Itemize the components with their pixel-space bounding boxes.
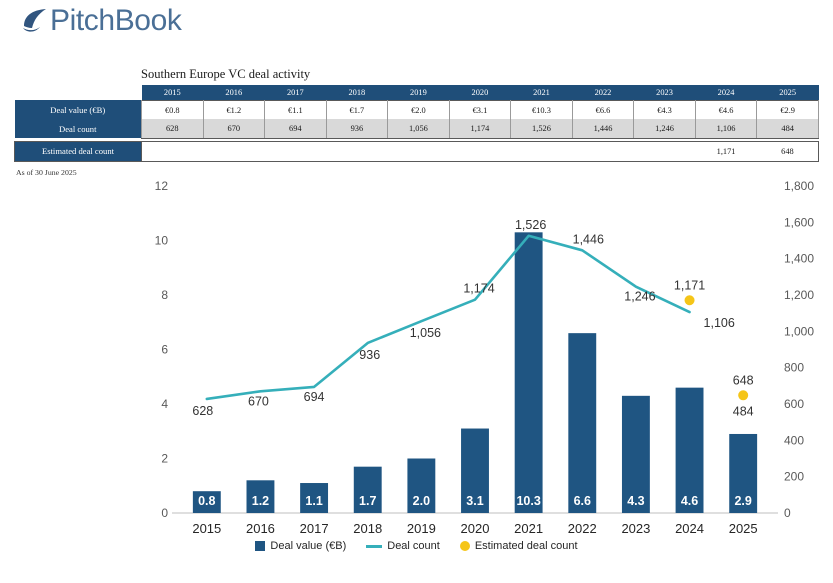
y-right-tick: 0 [784, 506, 791, 520]
cell-deal-count-2024: 1,106 [695, 119, 757, 138]
chart-plot-area: 024681012 02004006008001,0001,2001,4001,… [0, 176, 833, 536]
cell-deal-count-2020: 1,174 [449, 119, 511, 138]
cell-estimated-2021 [511, 141, 573, 161]
cell-deal-count-2017: 694 [265, 119, 327, 138]
table-corner-cell [15, 85, 142, 101]
cell-deal-count-2022: 1,446 [572, 119, 634, 138]
cell-estimated-2018 [326, 141, 388, 161]
estimated-dot-2024[interactable] [685, 295, 695, 305]
row-label-estimated-deal-count: Estimated deal count [15, 141, 142, 161]
x-tick-2022: 2022 [568, 521, 597, 536]
deal-activity-table: 2015 2016 2017 2018 2019 2020 2021 2022 … [14, 85, 819, 162]
x-tick-2019: 2019 [407, 521, 436, 536]
cell-estimated-2025: 648 [757, 141, 819, 161]
col-header-2018: 2018 [326, 85, 388, 101]
x-tick-2016: 2016 [246, 521, 275, 536]
cell-deal-value-2015: €0.8 [142, 100, 204, 119]
legend-square-icon [255, 541, 265, 551]
y-right-tick: 600 [784, 397, 804, 411]
legend-item-deal-value[interactable]: Deal value (€B) [255, 540, 346, 552]
chart-title: Southern Europe VC deal activity [141, 68, 819, 82]
cell-estimated-2022 [572, 141, 634, 161]
y-left-tick: 4 [161, 397, 168, 411]
line-label-2019: 1,056 [410, 326, 441, 340]
y-right-tick: 400 [784, 433, 804, 447]
line-label-2024: 1,106 [704, 316, 735, 330]
chart-legend: Deal value (€B) Deal count Estimated dea… [0, 540, 833, 552]
line-label-2018: 936 [359, 348, 380, 362]
y-left-tick: 0 [161, 506, 168, 520]
bar-label-2015: 0.8 [198, 494, 215, 508]
estimated-dot-label-2025: 648 [733, 373, 754, 387]
data-table-block: Southern Europe VC deal activity 2015 20… [14, 68, 819, 177]
pitchbook-wordmark: PitchBook [50, 6, 181, 36]
cell-estimated-2024: 1,171 [695, 141, 757, 161]
cell-deal-count-2025: 484 [757, 119, 819, 138]
col-header-2019: 2019 [388, 85, 450, 101]
x-tick-2021: 2021 [514, 521, 543, 536]
bar-label-2022: 6.6 [574, 494, 591, 508]
line-label-2025: 484 [733, 404, 754, 418]
bar-label-2016: 1.2 [252, 494, 269, 508]
x-tick-2015: 2015 [192, 521, 221, 536]
bar-label-2019: 2.0 [413, 494, 430, 508]
legend-item-estimated-deal-count[interactable]: Estimated deal count [460, 540, 578, 552]
table-row: Deal count 628 670 694 936 1,056 1,174 1… [15, 119, 819, 138]
line-label-2017: 694 [304, 390, 325, 404]
bar-label-2020: 3.1 [466, 494, 483, 508]
cell-deal-count-2021: 1,526 [511, 119, 573, 138]
row-label-deal-count: Deal count [15, 119, 142, 138]
cell-deal-value-2016: €1.2 [203, 100, 265, 119]
y-right-tick: 1,000 [784, 324, 814, 338]
x-tick-2017: 2017 [300, 521, 329, 536]
bar-series [193, 232, 757, 513]
deal-activity-chart: 024681012 02004006008001,0001,2001,4001,… [0, 176, 833, 536]
col-header-2020: 2020 [449, 85, 511, 101]
line-label-2023: 1,246 [624, 290, 655, 304]
bar-label-2025: 2.9 [734, 494, 751, 508]
col-header-2017: 2017 [265, 85, 327, 101]
estimated-dot-labels: 1,171648 [674, 278, 754, 387]
y-axis-right: 02004006008001,0001,2001,4001,6001,800 [784, 179, 814, 520]
cell-deal-count-2015: 628 [142, 119, 204, 138]
y-right-tick: 800 [784, 361, 804, 375]
x-tick-2018: 2018 [353, 521, 382, 536]
bar-2022[interactable] [568, 333, 596, 513]
col-header-2021: 2021 [511, 85, 573, 101]
x-tick-2023: 2023 [621, 521, 650, 536]
bar-label-2017: 1.1 [305, 494, 322, 508]
table-row: Deal value (€B) €0.8 €1.2 €1.1 €1.7 €2.0… [15, 100, 819, 119]
cell-deal-value-2018: €1.7 [326, 100, 388, 119]
deal-count-line[interactable] [207, 236, 690, 399]
line-label-2021: 1,526 [515, 218, 546, 232]
cell-deal-value-2024: €4.6 [695, 100, 757, 119]
col-header-2015: 2015 [142, 85, 204, 101]
table-row: Estimated deal count 1,171 648 [15, 141, 819, 161]
line-label-2022: 1,446 [573, 232, 604, 246]
y-left-tick: 10 [155, 234, 169, 248]
cell-deal-value-2025: €2.9 [757, 100, 819, 119]
cell-deal-count-2023: 1,246 [634, 119, 696, 138]
line-label-2015: 628 [192, 404, 213, 418]
cell-estimated-2016 [203, 141, 265, 161]
y-left-tick: 2 [161, 452, 168, 466]
legend-dot-icon [460, 541, 470, 551]
cell-estimated-2015 [142, 141, 204, 161]
y-left-tick: 6 [161, 343, 168, 357]
y-right-tick: 200 [784, 470, 804, 484]
y-right-tick: 1,400 [784, 252, 814, 266]
bar-label-2023: 4.3 [627, 494, 644, 508]
cell-deal-value-2020: €3.1 [449, 100, 511, 119]
y-right-tick: 1,600 [784, 215, 814, 229]
bar-label-2021: 10.3 [516, 494, 540, 508]
line-label-2016: 670 [248, 394, 269, 408]
legend-label-estimated-deal-count: Estimated deal count [475, 540, 578, 552]
table-header-row: 2015 2016 2017 2018 2019 2020 2021 2022 … [15, 85, 819, 101]
col-header-2016: 2016 [203, 85, 265, 101]
col-header-2023: 2023 [634, 85, 696, 101]
cell-estimated-2020 [449, 141, 511, 161]
cell-deal-count-2019: 1,056 [388, 119, 450, 138]
legend-line-icon [366, 545, 382, 548]
bar-label-2024: 4.6 [681, 494, 698, 508]
x-tick-2020: 2020 [461, 521, 490, 536]
line-label-2020: 1,174 [463, 282, 494, 296]
legend-label-deal-count: Deal count [387, 540, 440, 552]
cell-deal-value-2021: €10.3 [511, 100, 573, 119]
bar-label-2018: 1.7 [359, 494, 376, 508]
col-header-2022: 2022 [572, 85, 634, 101]
legend-item-deal-count[interactable]: Deal count [366, 540, 440, 552]
x-tick-2025: 2025 [729, 521, 758, 536]
x-tick-2024: 2024 [675, 521, 704, 536]
cell-deal-value-2023: €4.3 [634, 100, 696, 119]
line-value-labels: 6286706949361,0561,1741,5261,4461,2461,1… [192, 218, 753, 419]
bar-2021[interactable] [515, 232, 543, 513]
row-label-deal-value: Deal value (€B) [15, 100, 142, 119]
y-left-tick: 8 [161, 288, 168, 302]
line-series [207, 236, 690, 399]
cell-estimated-2023 [634, 141, 696, 161]
x-axis-labels: 2015201620172018201920202021202220232024… [192, 521, 757, 536]
cell-deal-count-2018: 936 [326, 119, 388, 138]
y-left-tick: 12 [155, 179, 169, 193]
cell-deal-value-2019: €2.0 [388, 100, 450, 119]
estimated-dot-label-2024: 1,171 [674, 278, 705, 292]
cell-deal-count-2016: 670 [203, 119, 265, 138]
cell-deal-value-2022: €6.6 [572, 100, 634, 119]
col-header-2025: 2025 [757, 85, 819, 101]
pitchbook-feather-icon [22, 6, 48, 36]
y-right-tick: 1,200 [784, 288, 814, 302]
pitchbook-logo: PitchBook [22, 6, 181, 36]
legend-label-deal-value: Deal value (€B) [270, 540, 346, 552]
col-header-2024: 2024 [695, 85, 757, 101]
cell-estimated-2017 [265, 141, 327, 161]
bar-value-labels: 0.81.21.11.72.03.110.36.64.34.62.9 [198, 494, 752, 508]
estimated-dot-2025[interactable] [738, 390, 748, 400]
y-axis-left: 024681012 [155, 179, 169, 520]
cell-estimated-2019 [388, 141, 450, 161]
cell-deal-value-2017: €1.1 [265, 100, 327, 119]
y-right-tick: 1,800 [784, 179, 814, 193]
